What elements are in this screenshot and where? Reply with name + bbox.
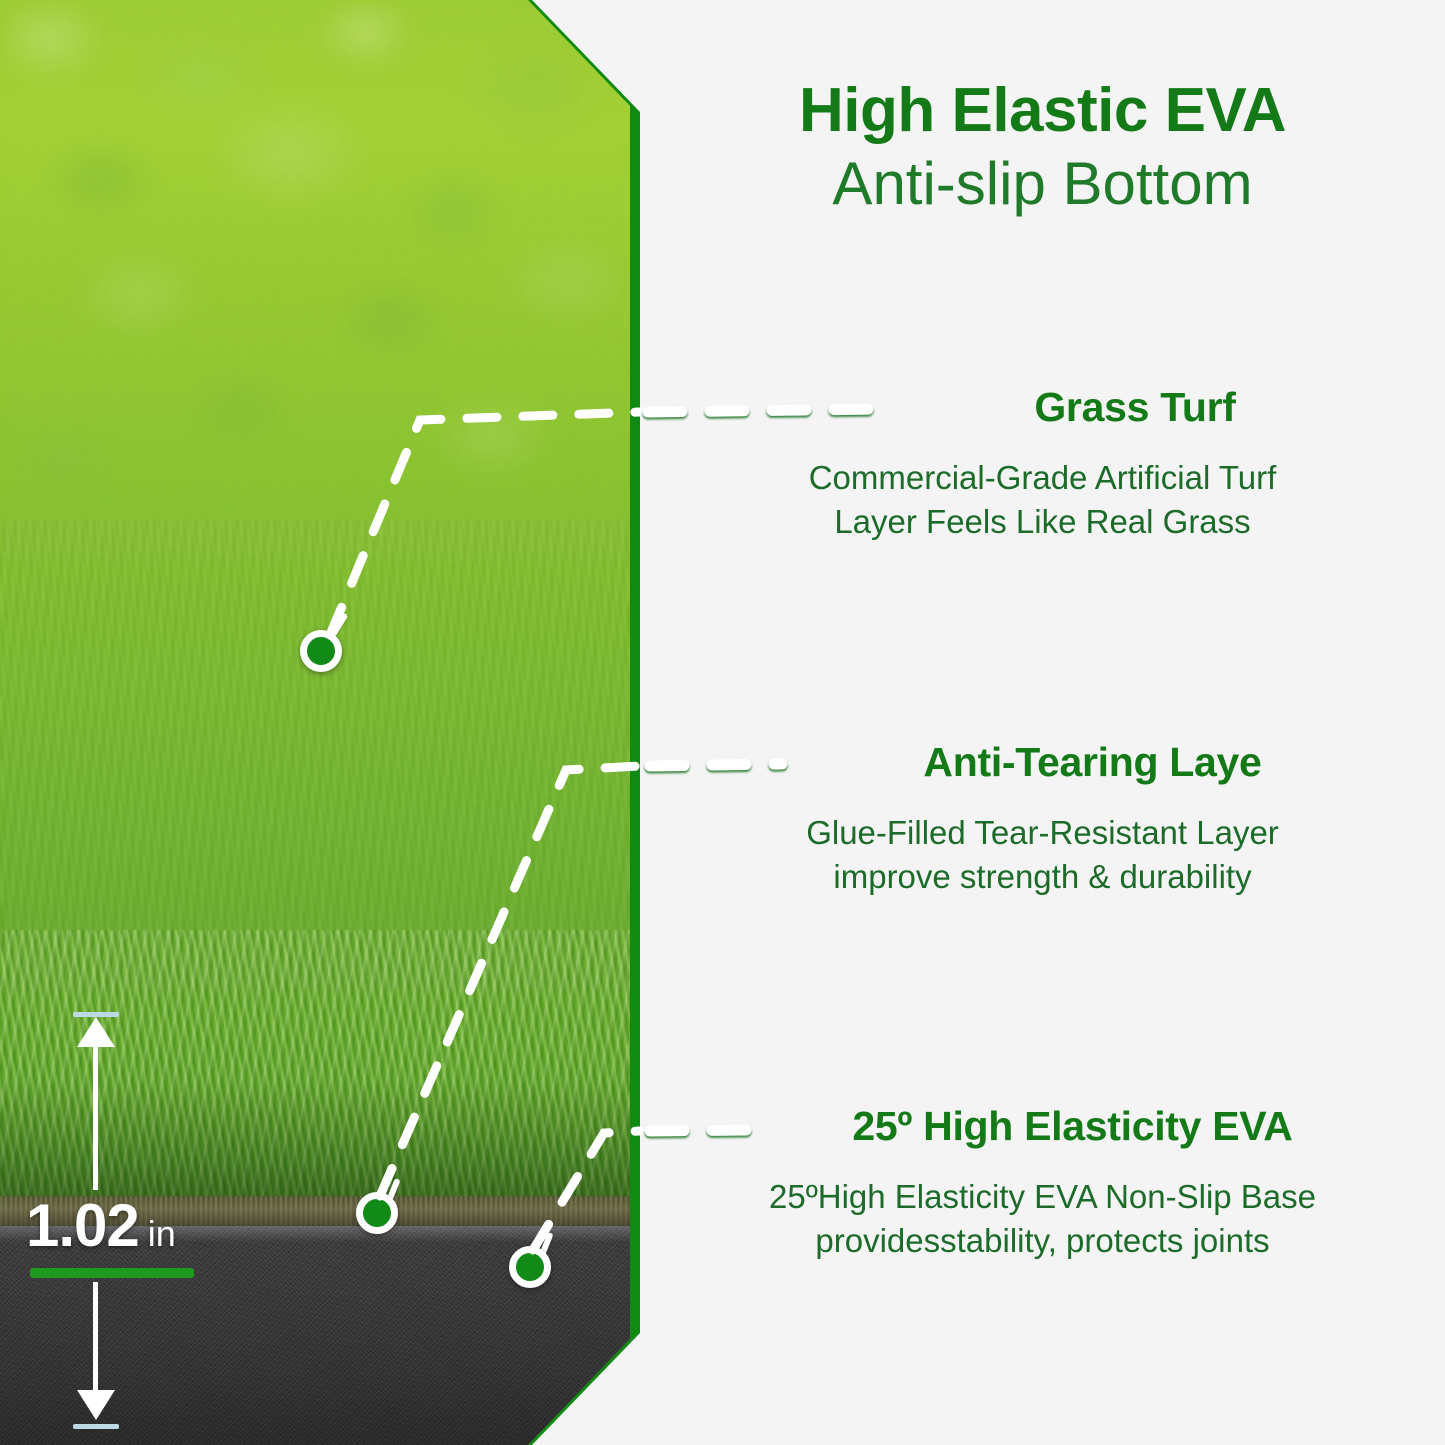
feature-2-desc-line-1: Glue-Filled Tear-Resistant Layer [640, 811, 1445, 855]
dimension-arrow-down [77, 1390, 115, 1420]
dimension-label: 1.02 in [26, 1196, 176, 1256]
feature-3-desc-line-2: providesstability, protects joints [640, 1219, 1445, 1263]
feature-1-desc-line-1: Commercial-Grade Artificial Turf [640, 456, 1445, 500]
title-line-1: High Elastic EVA [640, 78, 1445, 144]
callout-dot-icon-eva[interactable] [509, 1246, 551, 1288]
product-infographic: 1.02 in High Elastic EVA [0, 0, 1445, 1445]
title-line-2: Anti-slip Bottom [640, 150, 1445, 217]
product-photo-panel: 1.02 in [0, 0, 640, 1445]
callout-dot-icon-grass-turf[interactable] [300, 630, 342, 672]
title-block: High Elastic EVA Anti-slip Bottom [640, 78, 1445, 217]
dimension-value: 1.02 [26, 1196, 139, 1256]
feature-1-desc-line-2: Layer Feels Like Real Grass [640, 500, 1445, 544]
feature-2-description: Glue-Filled Tear-Resistant Layer improve… [640, 811, 1445, 899]
callout-dot-icon-anti-tearing[interactable] [356, 1192, 398, 1234]
feature-3-title: 25º High Elasticity EVA [640, 1104, 1445, 1149]
dimension-bottom-cap [73, 1424, 119, 1429]
content-panel: High Elastic EVA Anti-slip Bottom Grass … [640, 0, 1445, 1445]
feature-grass-turf: Grass Turf Commercial-Grade Artificial T… [640, 385, 1445, 544]
feature-high-elasticity-eva: 25º High Elasticity EVA 25ºHigh Elastici… [640, 1104, 1445, 1263]
feature-1-description: Commercial-Grade Artificial Turf Layer F… [640, 456, 1445, 544]
thickness-dimension: 1.02 in [0, 0, 630, 1445]
feature-1-title: Grass Turf [640, 385, 1445, 430]
dimension-line-upper [93, 1040, 98, 1190]
feature-2-title: Anti-Tearing Laye [640, 740, 1445, 785]
dimension-line-lower [93, 1282, 98, 1397]
feature-2-desc-line-2: improve strength & durability [640, 855, 1445, 899]
product-photo: 1.02 in [0, 0, 630, 1445]
feature-anti-tearing-layer: Anti-Tearing Laye Glue-Filled Tear-Resis… [640, 740, 1445, 899]
feature-3-desc-line-1: 25ºHigh Elasticity EVA Non-Slip Base [640, 1175, 1445, 1219]
dimension-underline-bar [30, 1268, 194, 1278]
dimension-unit: in [148, 1216, 176, 1252]
feature-3-description: 25ºHigh Elasticity EVA Non-Slip Base pro… [640, 1175, 1445, 1263]
